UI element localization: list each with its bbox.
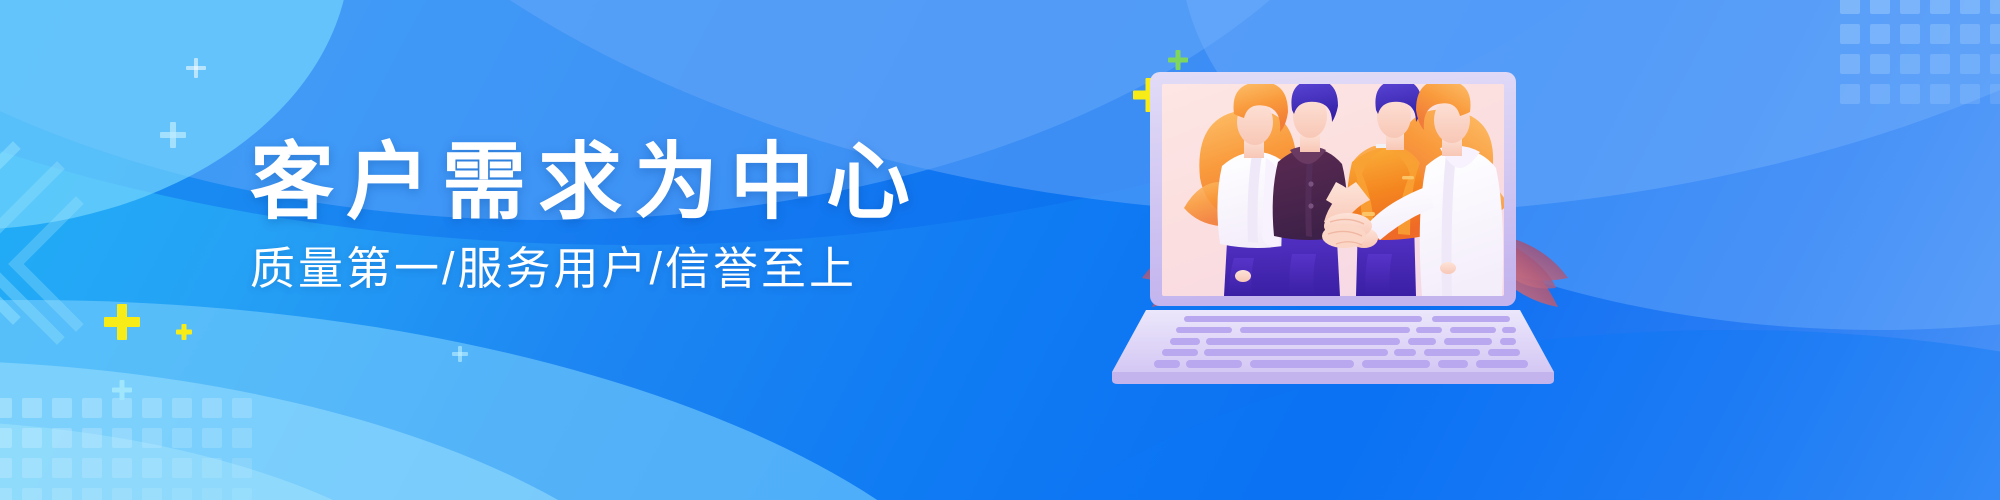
dot-cell [112,458,132,478]
woman-right-dress [1420,150,1503,296]
sparkle-yellow-small-bottom-icon [176,324,192,340]
dot-cell [52,428,72,448]
chevron-icon [0,141,105,325]
dot-cell [1930,84,1950,104]
dot-cell [232,488,252,500]
sparkle-white-upper-icon [186,58,206,78]
page-subtitle: 质量第一/服务用户/信誉至上 [250,246,1010,291]
dot-cell [142,398,162,418]
dot-cell [172,428,192,448]
dot-cell [22,488,42,500]
dot-cell [1930,0,1950,14]
dot-cell [0,398,12,418]
dot-cell [1870,54,1890,74]
dot-cell [172,398,192,418]
wave-lower-left-2 [0,360,730,500]
dot-cell [0,488,12,500]
chevron-icon [8,196,144,332]
dot-cell [1960,84,1980,104]
dot-cell [1900,54,1920,74]
laptop-keyboard [1112,310,1554,384]
dot-cell [1840,54,1860,74]
sparkle-yellow-large-bottom-icon [104,304,140,340]
sparkle-cyan-left-icon [452,346,468,362]
wave-lower-left-1 [0,300,1050,500]
dot-cell [1960,0,1980,14]
wave-lower-left-3 [0,420,500,500]
dot-cell [1840,24,1860,44]
dot-cell [0,428,12,448]
sparkle-white-mid-icon [160,122,186,148]
dot-cell [82,458,102,478]
dot-cell [1870,84,1890,104]
chevron-icon [0,161,149,345]
dot-cell [202,458,222,478]
dot-cell [1840,0,1860,14]
dot-cell [172,458,192,478]
dot-cell [1930,24,1950,44]
dot-cell [202,428,222,448]
dot-cell [82,428,102,448]
dot-cell [232,398,252,418]
dot-cell [232,428,252,448]
dot-cell [112,488,132,500]
sparkle-cyan-bottom-icon [112,380,132,400]
dot-cell [1990,54,2000,74]
dot-cell [22,458,42,478]
dot-cell [142,458,162,478]
dot-cell [1840,84,1860,104]
dot-cell [1960,54,1980,74]
dot-cell [1930,54,1950,74]
screen-scene [1162,80,1508,297]
dot-cell [52,488,72,500]
promo-banner: 客户需求为中心 质量第一/服务用户/信誉至上 [0,0,2000,500]
dot-cell [1990,0,2000,14]
dot-cell [1990,24,2000,44]
dot-cell [1900,0,1920,14]
dot-cell [52,398,72,418]
dot-cell [22,428,42,448]
dot-cell [22,398,42,418]
dot-cell [1870,24,1890,44]
banner-copy: 客户需求为中心 质量第一/服务用户/信誉至上 [250,140,1010,291]
dot-cell [1990,84,2000,104]
dot-cell [142,428,162,448]
dot-cell [112,428,132,448]
dot-cell [1960,24,1980,44]
dot-cell [52,458,72,478]
dot-cell [1900,24,1920,44]
dot-cell [142,488,162,500]
dot-cell [202,488,222,500]
dot-cell [82,398,102,418]
dot-cell [232,458,252,478]
laptop-team-illustration [1140,58,1570,388]
dot-cell [0,458,12,478]
dot-cell [202,398,222,418]
dot-cell [82,488,102,500]
dot-cell [112,398,132,418]
dot-cell [172,488,192,500]
page-title: 客户需求为中心 [250,140,1010,224]
dot-cell [1900,84,1920,104]
dot-cell [1870,0,1890,14]
